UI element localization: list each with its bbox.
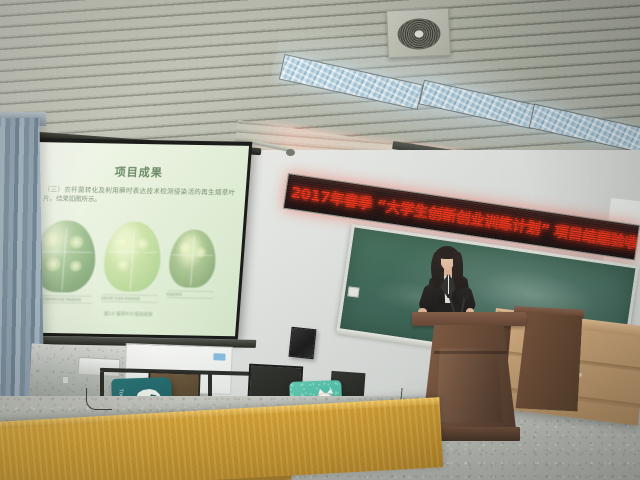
leaf-caption: 转基因侵染 xyxy=(166,290,213,299)
lesion-spot xyxy=(116,259,129,272)
leaf-caption: 侵染对照 空载体 转基因侵染 xyxy=(101,294,158,304)
lesion-spot xyxy=(43,233,60,248)
slide-title: 项目成果 xyxy=(39,162,239,181)
leaf-figure-cell: 转基因侵染 xyxy=(166,222,218,299)
hair-strand-left xyxy=(432,252,441,288)
wall-speaker-box xyxy=(289,327,317,359)
tobacco-leaf-image xyxy=(167,229,217,288)
projection-screen: 项目成果 （三）农杆菌转化及利用瞬时表达技术检测侵染活的再生烟草叶片。结果如图所… xyxy=(15,138,252,339)
lesion-spot xyxy=(45,257,61,271)
wall-sink xyxy=(78,357,121,377)
classroom-photo: 2017年春季 “大学生创新创业训练计划” 项目结题验收汇报会 项目成果 （三）… xyxy=(0,0,640,480)
microphone-head xyxy=(464,295,468,299)
podium-front-panel xyxy=(436,348,502,422)
slide-figure-row: 侵染对照 空载体转化侵染 转基因侵染 侵染对照 空载体 转基因侵染 xyxy=(29,219,239,306)
slide-body-text: （三）农杆菌转化及利用瞬时表达技术检测侵染活的再生烟草叶片。结果如图所示。 xyxy=(43,185,236,207)
ceiling-exhaust-fan-icon xyxy=(386,8,451,59)
tobacco-leaf-image xyxy=(102,221,163,292)
screen-mount-knob xyxy=(286,149,295,156)
leaf-figure-cell: 侵染对照 空载体 转基因侵染 xyxy=(101,221,163,303)
lesion-spot xyxy=(69,260,82,272)
wall-outlet[interactable] xyxy=(347,286,359,297)
figure-caption: 图14 烟草叶片侵染结果 xyxy=(21,309,237,319)
hair-strand-right xyxy=(453,252,463,290)
projected-slide: 项目成果 （三）农杆菌转化及利用瞬时表达技术检测侵染活的再生烟草叶片。结果如图所… xyxy=(19,142,248,336)
lesion-spot xyxy=(115,235,129,248)
side-lectern xyxy=(516,312,583,411)
lesion-spot xyxy=(179,242,193,255)
microphone-head xyxy=(447,294,451,298)
lesion-spot xyxy=(195,247,207,259)
cabinet-label xyxy=(213,353,225,360)
screen-surface: 项目成果 （三）农杆菌转化及利用瞬时表达技术检测侵染活的再生烟草叶片。结果如图所… xyxy=(19,142,248,336)
faucet-icon[interactable] xyxy=(62,376,69,384)
lesion-spot xyxy=(69,236,84,248)
lesion-spot xyxy=(136,238,149,250)
power-cable xyxy=(86,388,112,410)
podium-top-surface xyxy=(412,312,526,326)
